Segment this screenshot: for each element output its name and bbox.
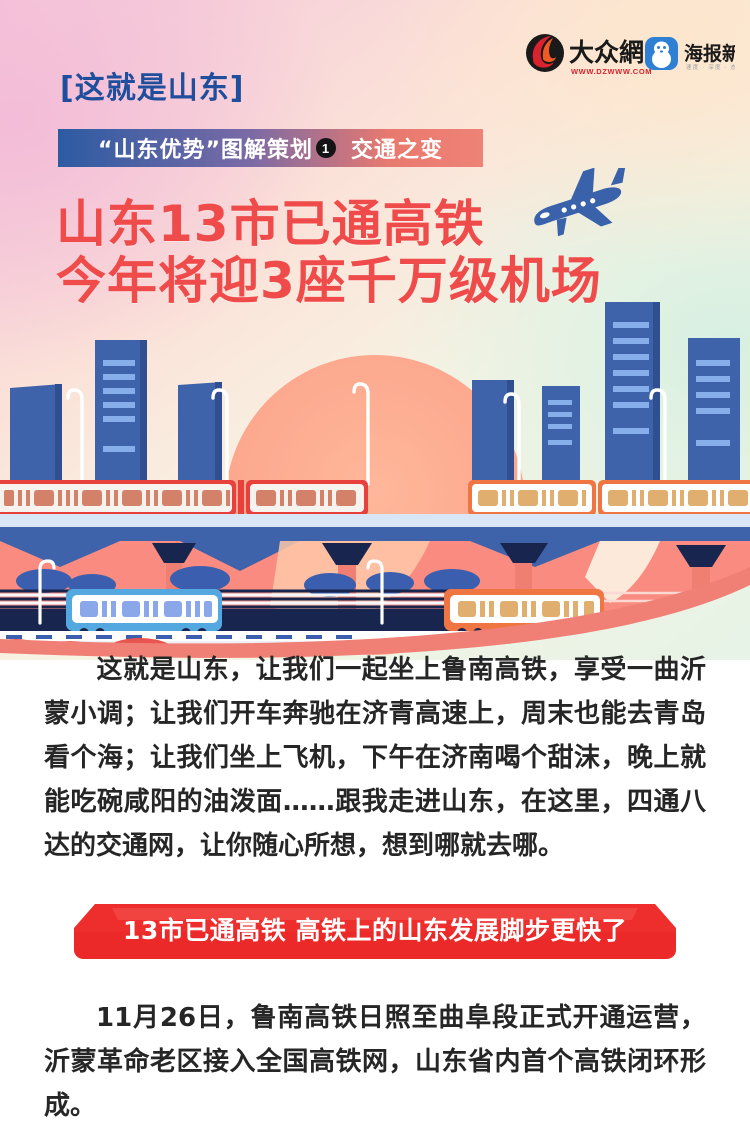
series-banner-prefix: “山东优势”图解策划 xyxy=(98,132,313,164)
svg-text:海报新闻: 海报新闻 xyxy=(684,42,735,65)
series-banner-suffix: 交通之变 xyxy=(351,132,443,164)
viaduct-slab-light xyxy=(0,514,750,527)
blue-metro-train xyxy=(66,589,222,638)
article-paragraph-2: 11月26日，鲁南高铁日照至曲阜段正式开通运营，沂蒙革命老区接入全国高铁网，山东… xyxy=(0,996,750,1128)
paragraph-1-text: 这就是山东，让我们一起坐上鲁南高铁，享受一曲沂蒙小调；让我们开车奔驰在济青高速上… xyxy=(44,655,706,861)
page-title: 山东13市已通高铁 今年将迎3座千万级机场 xyxy=(56,196,602,310)
paragraph-2-text: 11月26日，鲁南高铁日照至曲阜段正式开通运营，沂蒙革命老区接入全国高铁网，山东… xyxy=(44,1003,706,1121)
article-body: 这就是山东，让我们一起坐上鲁南高铁，享受一曲沂蒙小调；让我们开车奔驰在济青高速上… xyxy=(0,648,750,1128)
city-skyline xyxy=(0,300,750,500)
section-banner-label: 13市已通高铁 高铁上的山东发展脚步更快了 xyxy=(0,898,750,960)
page-title-line1: 山东13市已通高铁 xyxy=(56,196,602,253)
article-paragraph-1: 这就是山东，让我们一起坐上鲁南高铁，享受一曲沂蒙小调；让我们开车奔驰在济青高速上… xyxy=(0,648,750,868)
orange-high-speed-train xyxy=(468,480,750,516)
upper-viaduct-trains xyxy=(0,478,750,518)
svg-text:WWW.DZWWW.COM: WWW.DZWWW.COM xyxy=(571,67,652,76)
red-high-speed-train xyxy=(0,480,368,516)
lower-city-scene xyxy=(0,527,750,660)
page-kicker: [这就是山东] xyxy=(60,74,244,104)
section-banner: 13市已通高铁 高铁上的山东发展脚步更快了 xyxy=(0,898,750,970)
series-number-badge: 1 xyxy=(316,138,336,158)
series-banner: “山东优势”图解策划 1 交通之变 xyxy=(58,129,483,167)
svg-text:速度 · 深度 · 态度: 速度 · 深度 · 态度 xyxy=(686,63,735,71)
hero-illustration: 大众網 WWW.DZWWW.COM 海报新闻 速度 · 深度 · 态度 xyxy=(0,0,750,660)
haibao-news-logo: 海报新闻 速度 · 深度 · 态度 xyxy=(645,37,735,71)
building-group xyxy=(10,302,740,484)
logo-bar: 大众網 WWW.DZWWW.COM 海报新闻 速度 · 深度 · 态度 xyxy=(523,33,735,79)
dazhong-wang-logo: 大众網 WWW.DZWWW.COM xyxy=(526,34,652,76)
svg-text:大众網: 大众網 xyxy=(569,38,644,67)
